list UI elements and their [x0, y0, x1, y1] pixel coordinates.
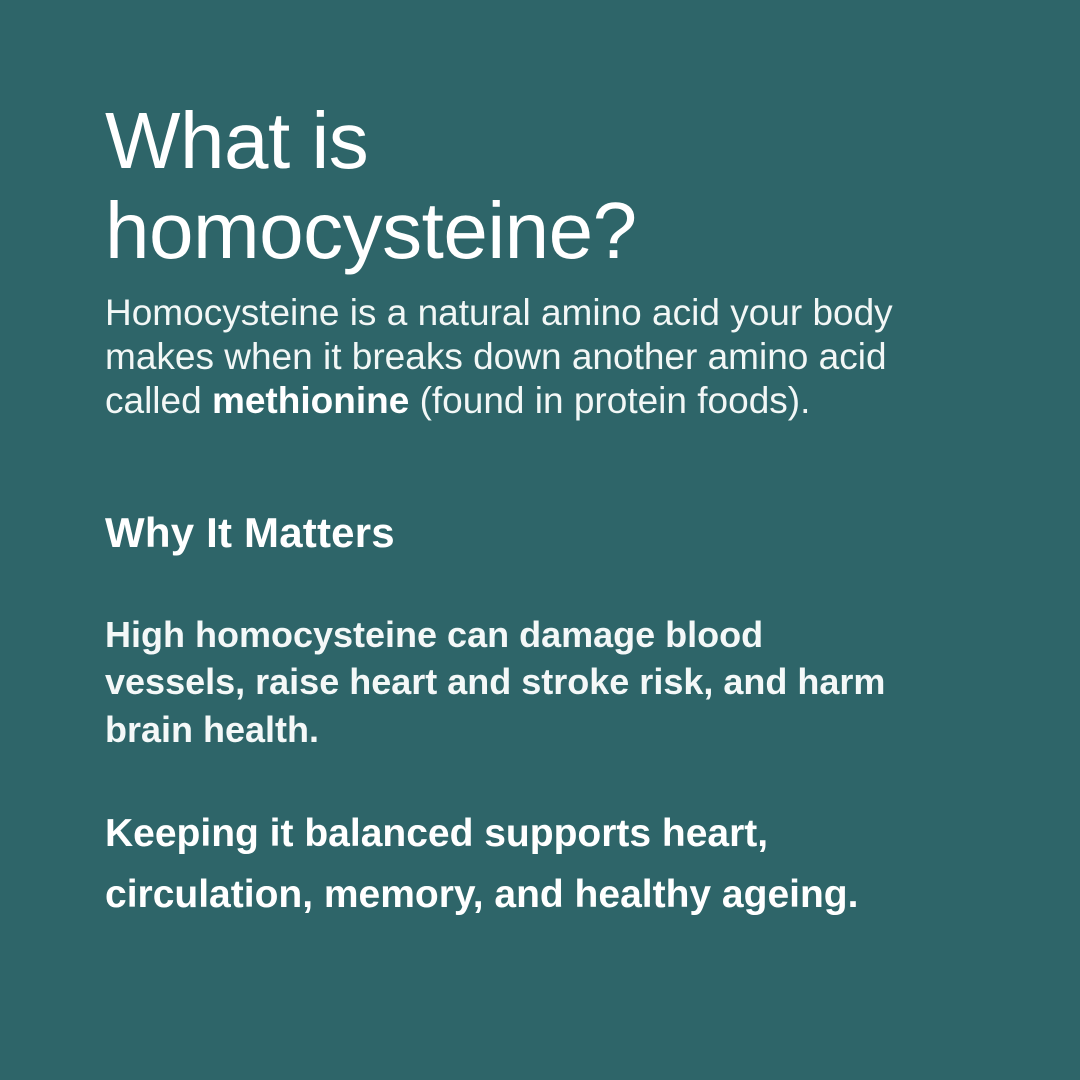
content-column: What is homocysteine? Homocysteine is a … [105, 96, 905, 926]
spacer-between-paragraphs [105, 754, 905, 804]
intro-text-after: (found in protein foods). [409, 380, 810, 421]
intro-paragraph: Homocysteine is a natural amino acid you… [105, 291, 900, 422]
intro-emphasis-methionine: methionine [212, 380, 409, 421]
spacer-before-section-heading [105, 422, 905, 508]
benefit-paragraph: Keeping it balanced supports heart, circ… [105, 804, 905, 926]
section-heading-why-it-matters: Why It Matters [105, 508, 905, 558]
slide-canvas: What is homocysteine? Homocysteine is a … [0, 0, 1080, 1080]
spacer-after-section-heading [105, 559, 905, 611]
page-title: What is homocysteine? [105, 96, 905, 275]
risk-paragraph: High homocysteine can damage blood vesse… [105, 611, 895, 755]
